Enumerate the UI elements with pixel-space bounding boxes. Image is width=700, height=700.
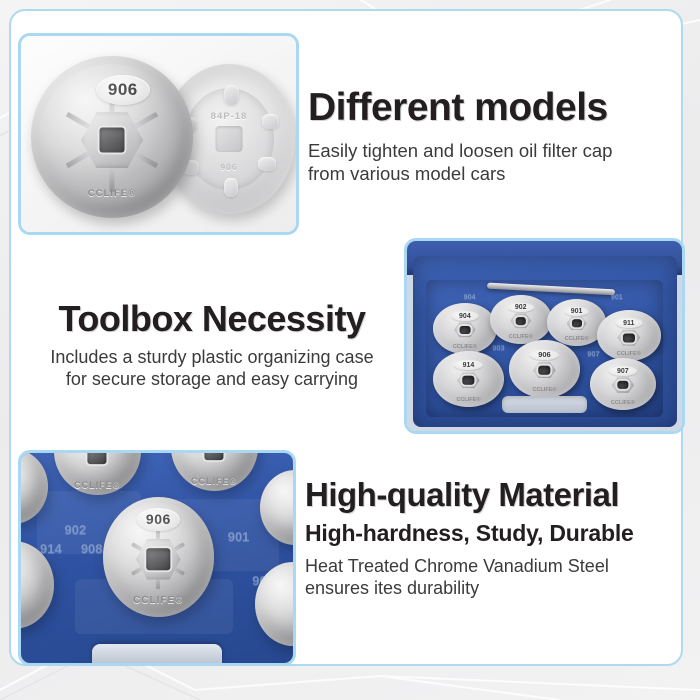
socket-brand: CCLIFE® bbox=[617, 351, 641, 357]
socket-brand: CCLIFE® bbox=[74, 480, 120, 490]
ghost-label: 914 bbox=[40, 541, 62, 556]
socket-drive bbox=[463, 376, 474, 384]
cap-size-badge: 906 bbox=[96, 75, 150, 105]
cap-drive-recess bbox=[216, 126, 243, 152]
socket-cap: 911 CCLIFE® bbox=[597, 310, 661, 361]
ghost-label: 907 bbox=[587, 349, 600, 358]
ghost-label: 908 bbox=[81, 541, 103, 556]
toolbox-body-line1: Includes a sturdy plastic organizing cas… bbox=[26, 347, 398, 369]
models-body: Easily tighten and loosen oil filter cap… bbox=[308, 140, 680, 185]
material-subheading: High-hardness, Study, Durable bbox=[305, 520, 683, 547]
socket-drive bbox=[539, 366, 550, 375]
toolbox-scene: 904 901 903 914 908 907 904 CCLIFE® 902 bbox=[407, 241, 682, 431]
socket-brand: CCLIFE® bbox=[453, 344, 477, 350]
cap-flute-2 bbox=[111, 112, 159, 142]
material-body: Heat Treated Chrome Vanadium Steel ensur… bbox=[305, 556, 683, 600]
cap-hex-boss bbox=[136, 539, 181, 580]
socket-cap: 906 CCLIFE® bbox=[509, 340, 580, 397]
socket-brand: CCLIFE® bbox=[509, 334, 533, 340]
socket-drive bbox=[515, 317, 526, 325]
cap-lug-top bbox=[224, 85, 239, 105]
socket-cap: 902 CCLIFE® bbox=[490, 295, 552, 344]
socket-size-badge: 906 bbox=[530, 350, 559, 360]
socket-drive bbox=[572, 320, 582, 327]
socket-size-badge: 907 bbox=[609, 366, 637, 376]
featured-socket-cap: 906 CCLIFE® bbox=[103, 497, 215, 617]
socket-drive bbox=[205, 450, 224, 460]
cap-flute-5 bbox=[66, 138, 114, 168]
cap-flute-1 bbox=[156, 529, 160, 559]
cap-flute-1 bbox=[110, 88, 115, 140]
cap-flute-4 bbox=[110, 140, 115, 192]
photo-oil-filter-caps: 84P-18 906 906 CCLIFE® bbox=[18, 33, 299, 235]
case-foam-tray: 904 901 903 914 908 907 904 CCLIFE® 902 bbox=[426, 280, 664, 417]
ghost-label: 901 bbox=[228, 529, 250, 544]
socket-size-badge: 901 bbox=[564, 307, 589, 316]
models-body-line1: Easily tighten and loosen oil filter cap bbox=[308, 140, 680, 163]
material-heading: High-quality Material bbox=[305, 478, 683, 513]
cap-hex-boss bbox=[81, 112, 143, 168]
cap-flute-2 bbox=[157, 543, 185, 561]
socket-size-badge: 914 bbox=[454, 360, 483, 370]
toolbox-body: Includes a sturdy plastic organizing cas… bbox=[26, 347, 398, 391]
cap-front-view: 906 CCLIFE® bbox=[31, 56, 193, 218]
socket-drive bbox=[617, 381, 628, 389]
cap-flute-3 bbox=[111, 138, 159, 168]
socket-cap: 904 CCLIFE® bbox=[433, 303, 497, 354]
ghost-label: 903 bbox=[492, 343, 505, 352]
socket-cap: 914 CCLIFE® bbox=[433, 351, 504, 407]
cap-square-drive bbox=[100, 128, 125, 153]
cap-brand-label: CCLIFE® bbox=[88, 188, 136, 199]
socket-drive bbox=[88, 450, 107, 464]
cap-reverse-model-emboss: 906 bbox=[220, 162, 237, 172]
socket-brand: CCLIFE® bbox=[191, 476, 237, 486]
cap-flute-6 bbox=[131, 543, 159, 561]
closeup-scene: 902 914 908 901 907 CCLIFE® CCLIFE® 9 bbox=[21, 453, 293, 663]
ghost-label: 902 bbox=[65, 522, 87, 537]
cap-flute-6 bbox=[66, 112, 114, 142]
toolbox-heading: Toolbox Necessity bbox=[26, 300, 398, 338]
photo-case-closeup: 902 914 908 901 907 CCLIFE® CCLIFE® 9 bbox=[18, 450, 296, 666]
material-body-line1: Heat Treated Chrome Vanadium Steel bbox=[305, 556, 683, 578]
ghost-label: 901 bbox=[611, 294, 623, 301]
socket-cap-upper-right: CCLIFE® bbox=[171, 450, 258, 491]
cap-reverse-size-emboss: 84P-18 bbox=[211, 111, 248, 122]
cap-lug-bottom bbox=[224, 178, 238, 197]
cap-square-drive bbox=[147, 549, 170, 571]
socket-brand: CCLIFE® bbox=[565, 336, 589, 342]
section-high-quality-material: High-quality Material High-hardness, Stu… bbox=[305, 478, 683, 600]
socket-brand: CCLIFE® bbox=[533, 387, 557, 393]
case-carry-handle-cutout bbox=[502, 396, 588, 412]
socket-size-badge: 911 bbox=[615, 318, 642, 328]
cap-flute-4 bbox=[156, 559, 160, 589]
section-toolbox-necessity: Toolbox Necessity Includes a sturdy plas… bbox=[26, 300, 398, 391]
case-carry-handle-cutout bbox=[92, 644, 223, 666]
featured-socket-brand: CCLIFE® bbox=[133, 595, 183, 606]
socket-cap: 907 CCLIFE® bbox=[590, 358, 657, 410]
toolbox-body-line2: for secure storage and easy carrying bbox=[26, 369, 398, 391]
socket-drive bbox=[459, 326, 470, 334]
socket-size-badge: 902 bbox=[508, 303, 534, 312]
case-body: 904 901 903 914 908 907 904 CCLIFE® 902 bbox=[413, 256, 677, 427]
ghost-label: 904 bbox=[464, 294, 476, 301]
socket-drive bbox=[623, 333, 635, 342]
photo-toolbox-case: 904 901 903 914 908 907 904 CCLIFE® 902 bbox=[404, 238, 685, 434]
material-body-line2: ensures ites durability bbox=[305, 578, 683, 600]
socket-brand: CCLIFE® bbox=[611, 400, 635, 406]
cap-lug-right bbox=[262, 114, 279, 129]
extension-bar bbox=[487, 282, 615, 295]
cap-lug-lower-right bbox=[258, 157, 276, 171]
cap-flute-5 bbox=[131, 558, 159, 576]
socket-brand: CCLIFE® bbox=[456, 397, 480, 403]
featured-socket-size-badge: 906 bbox=[137, 508, 179, 531]
caps-scene: 84P-18 906 906 CCLIFE® bbox=[21, 36, 296, 232]
section-different-models: Different models Easily tighten and loos… bbox=[308, 88, 680, 185]
socket-cap-upper-left: CCLIFE® bbox=[54, 450, 141, 495]
cap-flute-3 bbox=[157, 558, 185, 576]
models-heading: Different models bbox=[308, 88, 680, 129]
models-body-line2: from various model cars bbox=[308, 163, 680, 186]
socket-size-badge: 904 bbox=[451, 311, 478, 321]
